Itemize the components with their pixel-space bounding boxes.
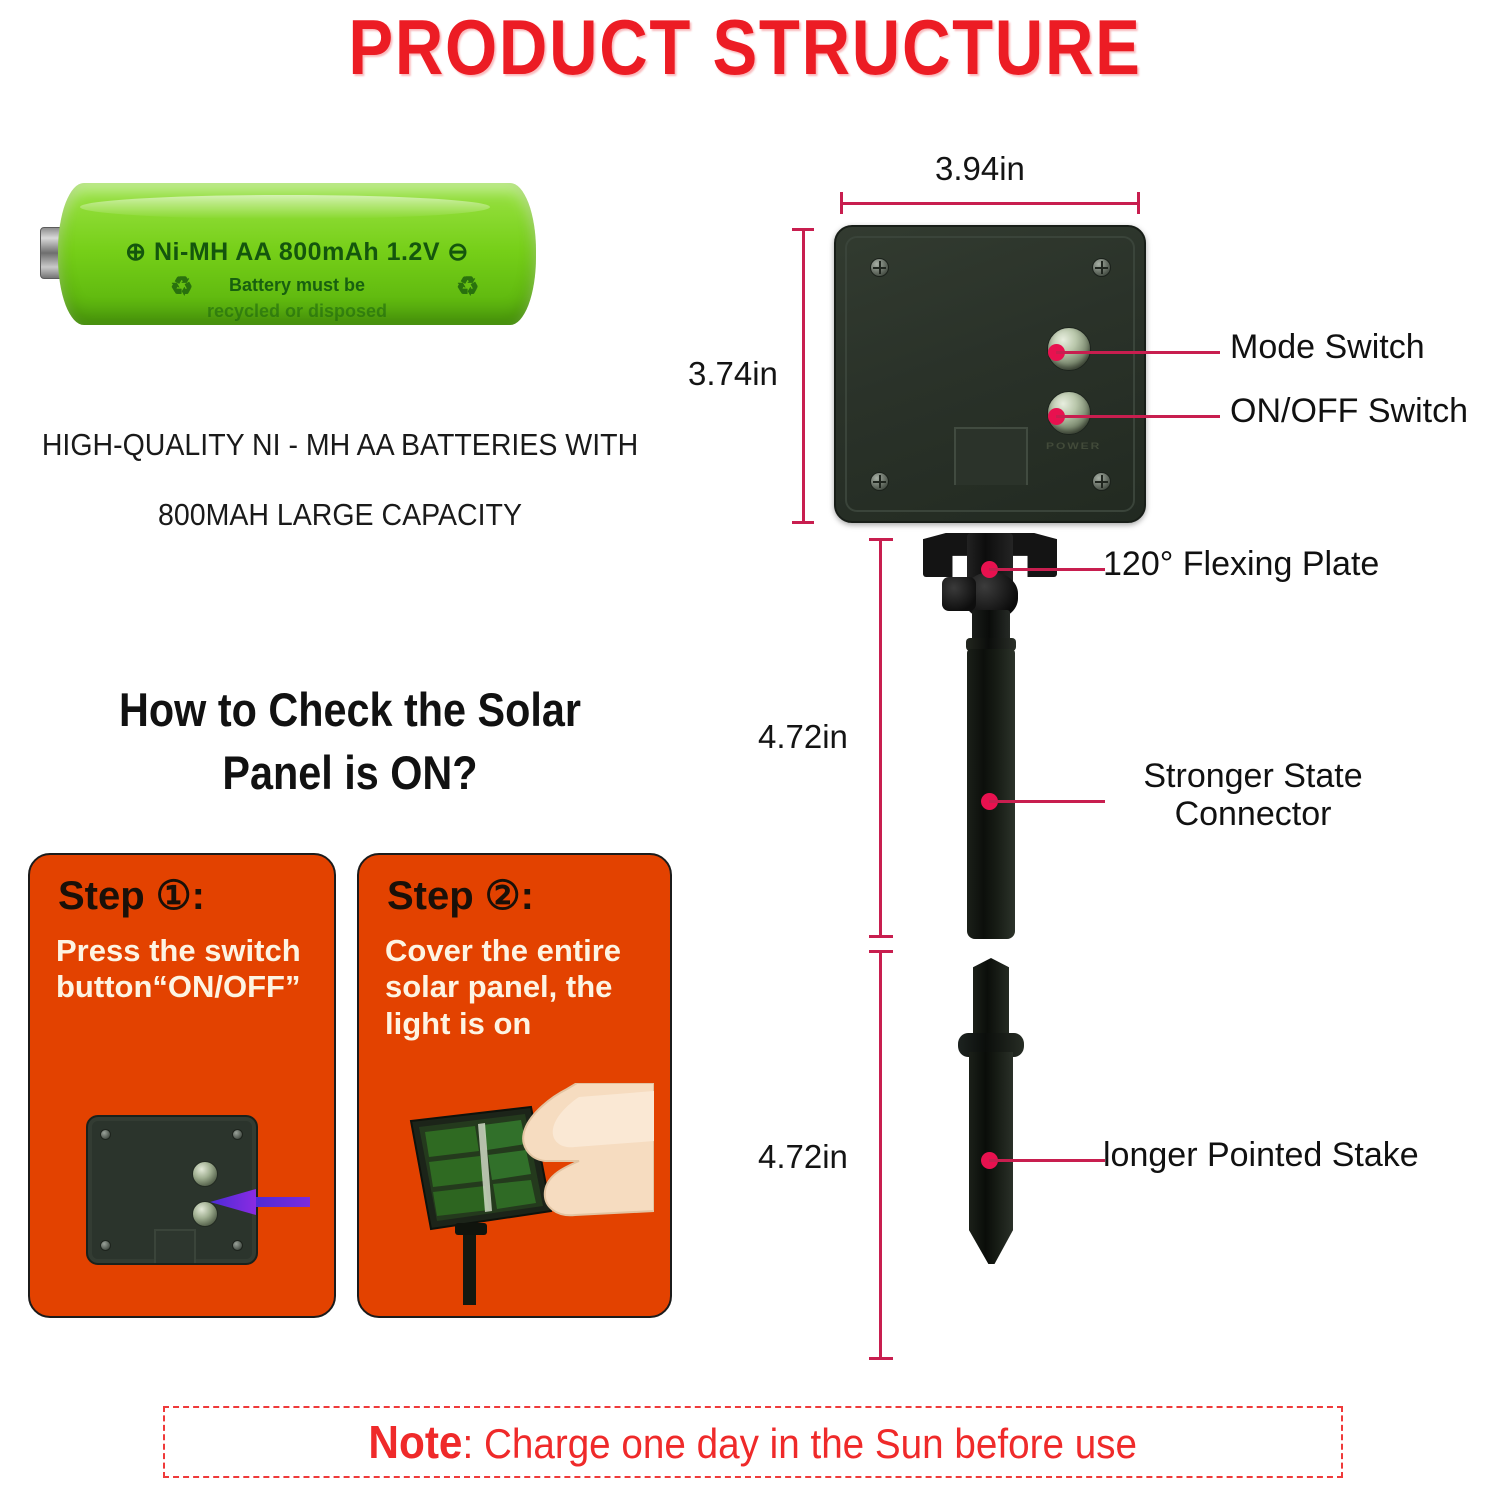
pointer-arrow-icon [210, 1189, 310, 1215]
note-prefix: Note [369, 1416, 463, 1468]
battery-caption-line-1: HIGH-QUALITY NI - MH AA BATTERIES WITH [27, 427, 653, 463]
onoff-switch-callout-line [1056, 415, 1220, 418]
flexing-plate-callout-line [989, 568, 1105, 571]
stake-dimension-line [879, 950, 882, 1360]
screw-icon [232, 1129, 243, 1140]
stake-callout-line [989, 1159, 1105, 1162]
stake-callout-label: longer Pointed Stake [1103, 1136, 1419, 1174]
panel-tab-icon [154, 1229, 196, 1263]
mode-switch-callout-line [1056, 351, 1220, 354]
stake-top-point [973, 958, 1009, 1000]
connector-dimension-cap-bottom [869, 935, 893, 938]
recycle-icon: ♻ [170, 271, 193, 302]
width-dimension-label: 3.94in [935, 150, 1025, 188]
screw-icon [100, 1129, 111, 1140]
howto-heading-line-1: How to Check the Solar [42, 682, 658, 737]
onoff-switch-callout-label: ON/OFF Switch [1230, 392, 1468, 430]
step-2-title: Step ②: [387, 873, 534, 919]
connector-dimension-cap-top [869, 538, 893, 541]
note-body: : Charge one day in the Sun before use [463, 1420, 1138, 1467]
screw-icon [1092, 472, 1111, 491]
connector-dimension-label: 4.72in [758, 718, 848, 756]
battery-spec-label: ⊕ Ni-MH AA 800mAh 1.2V ⊖ [58, 237, 536, 267]
connector-callout-line-2: Connector [1175, 795, 1332, 833]
step-2-photo [379, 1083, 654, 1305]
width-dimension-line [840, 202, 1140, 205]
howto-heading-line-2: Panel is ON? [42, 745, 658, 800]
stake-dimension-cap-top [869, 950, 893, 953]
step-1-body: Press the switch button“ON/OFF” [56, 933, 326, 1006]
stake-dimension-cap-bottom [869, 1357, 893, 1360]
mode-switch-callout-label: Mode Switch [1230, 328, 1425, 366]
note-text: Note: Charge one day in the Sun before u… [369, 1415, 1138, 1469]
no-trash-icon: ♻ [456, 271, 479, 302]
connector-callout-label: Stronger State Connector [1108, 757, 1398, 833]
connector-dimension-line [879, 538, 882, 938]
solar-panel-back: POWER [834, 225, 1146, 523]
connector-callout-line-1: Stronger State [1143, 757, 1362, 795]
product-structure-infographic: PRODUCT STRUCTURE ⊕ Ni-MH AA 800mAh 1.2V… [0, 0, 1490, 1500]
step-card-2: Step ②: Cover the entire solar panel, th… [357, 853, 672, 1318]
note-box: Note: Charge one day in the Sun before u… [163, 1406, 1343, 1478]
page-title: PRODUCT STRUCTURE [104, 2, 1385, 93]
panel-bottom-tab [954, 427, 1028, 485]
step-1-title: Step ①: [58, 873, 205, 919]
note-inner: Note: Charge one day in the Sun before u… [165, 1408, 1341, 1476]
battery-illustration: ⊕ Ni-MH AA 800mAh 1.2V ⊖ Battery must be… [40, 175, 540, 335]
power-label: POWER [1046, 440, 1101, 451]
battery-highlight [80, 195, 490, 219]
step-2-body: Cover the entire solar panel, the light … [385, 933, 665, 1042]
step-2-body-line-1: Cover the entire [385, 933, 665, 969]
screw-icon [870, 258, 889, 277]
height-dimension-line [802, 228, 805, 524]
height-dimension-cap-top [792, 228, 814, 231]
product-diagram: 3.94in 3.74in POWER Mode Switch ON/OFF S [690, 140, 1490, 1410]
screw-icon [1092, 258, 1111, 277]
width-dimension-cap-left [840, 192, 843, 214]
height-dimension-label: 3.74in [688, 355, 778, 393]
mode-switch-button-icon [192, 1161, 218, 1187]
screw-icon [100, 1240, 111, 1251]
step-1-photo [60, 1103, 310, 1301]
step-card-1: Step ①: Press the switch button“ON/OFF” [28, 853, 336, 1318]
step-2-body-line-3: light is on [385, 1006, 665, 1042]
step-1-body-line-2: button“ON/OFF” [56, 969, 326, 1005]
flexing-plate-knob [942, 577, 976, 611]
battery-caption-line-2: 800MAH LARGE CAPACITY [27, 497, 653, 533]
step-1-body-line-1: Press the switch [56, 933, 326, 969]
stake-dimension-label: 4.72in [758, 1138, 848, 1176]
hand-over-panel-icon [379, 1083, 654, 1305]
height-dimension-cap-bottom [792, 521, 814, 524]
step-2-body-line-2: solar panel, the [385, 969, 665, 1005]
flexing-plate-callout-label: 120° Flexing Plate [1103, 545, 1379, 583]
battery-recycle-line2: recycled or disposed [58, 301, 536, 322]
screw-icon [870, 472, 889, 491]
battery-body: ⊕ Ni-MH AA 800mAh 1.2V ⊖ Battery must be… [58, 183, 536, 325]
screw-icon [232, 1240, 243, 1251]
width-dimension-cap-right [1137, 192, 1140, 214]
connector-callout-line [989, 800, 1105, 803]
